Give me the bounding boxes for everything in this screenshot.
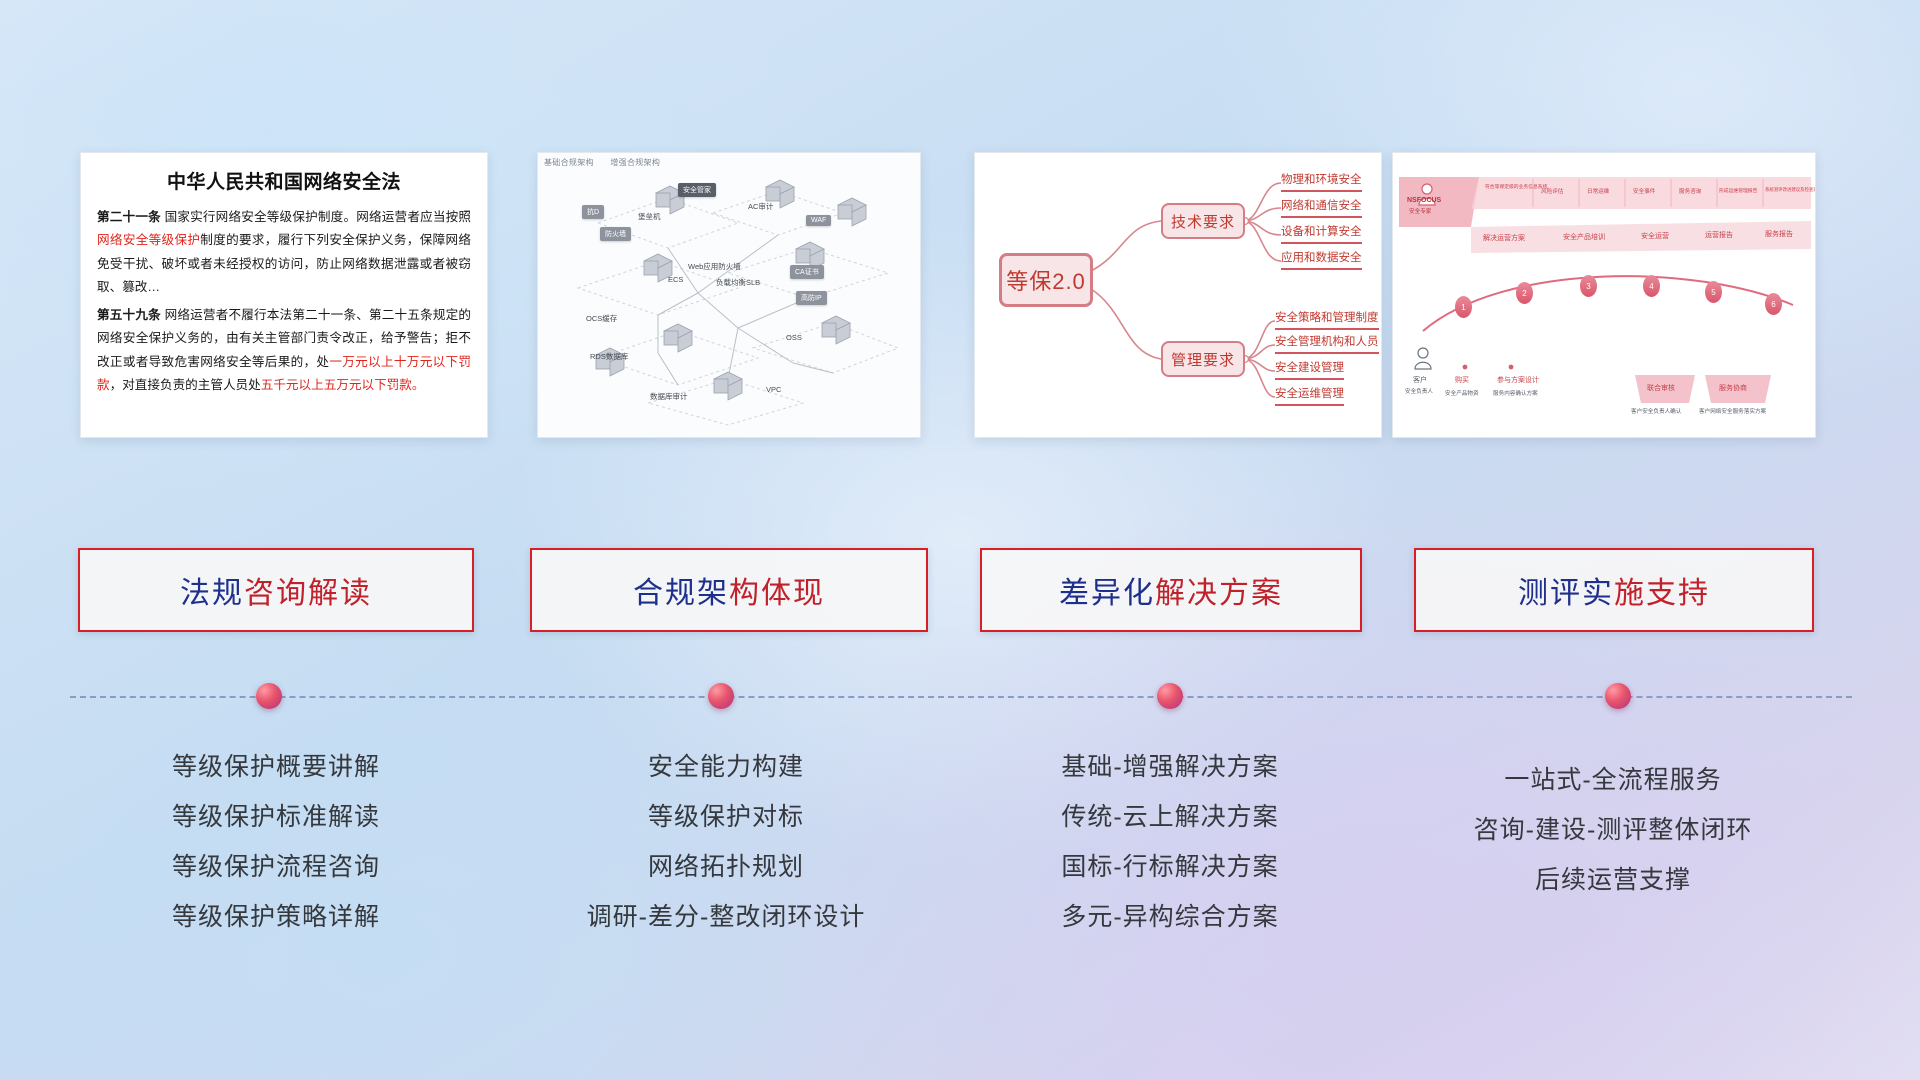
slide-canvas: 中华人民共和国网络安全法 第二十一条 国家实行网络安全等级保护制度。网络运营者应… (0, 0, 1920, 1080)
roadmap-note-5: 形成运维管理报告 (1719, 187, 1757, 194)
column-title-4-red: 施支持 (1614, 577, 1710, 610)
roadmap-phase-0: 解决运营方案 (1483, 233, 1525, 243)
arch-label-db-audit: 数据库审计 (650, 391, 688, 402)
roadmap-bottom-left-0: 购买 (1455, 375, 1469, 385)
list-item: 咨询-建设-测评整体闭环 (1398, 805, 1828, 855)
column-title-box-3[interactable]: 差异化解决方案 (980, 548, 1362, 632)
column-title-3: 差异化解决方案 (1059, 568, 1283, 612)
roadmap-note-3: 安全事件 (1633, 187, 1655, 195)
mindmap-leaf-network-comm: 网络和通信安全 (1281, 197, 1362, 218)
mindmap-leaf-device-compute: 设备和计算安全 (1281, 223, 1362, 244)
mindmap-leaf-construction-mgmt: 安全建设管理 (1275, 359, 1344, 380)
law-article-59-label: 第五十九条 (97, 308, 161, 322)
column-title-2-blue: 合规架 (633, 577, 729, 610)
roadmap-phase-2: 安全运营 (1641, 231, 1669, 241)
card-mindmap: 等保2.0 技术要求 管理要求 物理和环境安全 网络和通信安全 设备和计算安全 … (974, 152, 1382, 438)
column-title-1: 法规咨询解读 (180, 568, 372, 612)
column-list-1: 等级保护概要讲解 等级保护标准解读 等级保护流程咨询 等级保护策略详解 (78, 742, 474, 942)
mindmap-branch-management: 管理要求 (1161, 341, 1245, 377)
column-title-2-red: 构体现 (729, 577, 825, 610)
mindmap-leaf-app-data: 应用和数据安全 (1281, 249, 1362, 270)
roadmap-step-1: 1 (1455, 296, 1472, 318)
roadmap-step-5: 5 (1705, 281, 1722, 303)
arch-label-ecs: ECS (668, 275, 683, 284)
roadmap-phase-3: 运营报告 (1705, 230, 1733, 240)
roadmap-note-6: 系统测评改进建议及检查汇报结果 (1765, 187, 1816, 193)
column-title-3-blue: 差异化 (1059, 577, 1155, 610)
architecture-canvas: 基础合规架构 增强合规架构 (538, 153, 920, 437)
law-article-59-highlight-2: 五千元以上五万元以下罚款。 (261, 378, 425, 392)
mindmap-leaf-policy-system: 安全策略和管理制度 (1275, 309, 1379, 330)
arch-label-web-waf: Web应用防火墙 (688, 261, 741, 272)
list-item: 等级保护策略详解 (78, 892, 474, 942)
arch-tag-antiddos: 抗D (582, 205, 604, 219)
arch-tag-highdefense-ip: 高防IP (796, 291, 827, 305)
column-title-box-2[interactable]: 合规架构体现 (530, 548, 928, 632)
card-law-text: 中华人民共和国网络安全法 第二十一条 国家实行网络安全等级保护制度。网络运营者应… (80, 152, 488, 438)
column-list-2: 安全能力构建 等级保护对标 网络拓扑规划 调研-差分-整改闭环设计 (516, 742, 936, 942)
law-article-21-text-a: 国家实行网络安全等级保护制度。网络运营者应当按照 (165, 210, 471, 224)
roadmap-bottom-right-0: 联合审核 (1647, 383, 1675, 393)
mindmap-leaf-org-personnel: 安全管理机构和人员 (1275, 333, 1379, 354)
roadmap-note-2: 日常运维 (1587, 187, 1609, 195)
arch-label-slb: 负载均衡SLB (716, 277, 760, 288)
list-item: 基础-增强解决方案 (960, 742, 1380, 792)
roadmap-brand: NSFOCUS (1407, 197, 1441, 204)
mindmap-branch-technical: 技术要求 (1161, 203, 1245, 239)
architecture-lines (538, 153, 921, 438)
list-item: 多元-异构综合方案 (960, 892, 1380, 942)
roadmap-note-1: 风险评估 (1541, 187, 1563, 195)
roadmap-bottom-right-sub-1: 客户网络安全服务落实方案 (1699, 407, 1766, 415)
roadmap-step-6: 6 (1765, 293, 1782, 315)
roadmap-note-0: 符合等保定级的业务信息系统 (1485, 183, 1547, 190)
mindmap-leaf-physical-env: 物理和环境安全 (1281, 171, 1362, 192)
roadmap-step-4: 4 (1643, 275, 1660, 297)
roadmap-persona: 客户 (1413, 375, 1427, 385)
arch-tag-firewall: 防火墙 (600, 227, 631, 241)
roadmap-canvas: NSFOCUS 安全专家 符合等保定级的业务信息系统 风险评估 日常运维 安全事… (1393, 153, 1815, 437)
timeline-dot-4[interactable] (1605, 683, 1631, 709)
list-item: 等级保护概要讲解 (78, 742, 474, 792)
law-paragraph-59: 第五十九条 网络运营者不履行本法第二十一条、第二十五条规定的网络安全保护义务的，… (97, 304, 471, 398)
arch-tag-security-steward: 安全管家 (678, 183, 716, 197)
roadmap-bottom-left-sub-1: 服务内容确认方案 (1493, 389, 1538, 397)
arch-tag-ca-cert: CA证书 (790, 265, 824, 279)
arch-label-rds: RDS数据库 (590, 351, 628, 362)
column-title-box-1[interactable]: 法规咨询解读 (78, 548, 474, 632)
column-title-1-blue: 法规 (180, 577, 244, 610)
list-item: 一站式-全流程服务 (1398, 755, 1828, 805)
card-architecture-diagram: 基础合规架构 增强合规架构 (537, 152, 921, 438)
list-item: 等级保护标准解读 (78, 792, 474, 842)
mindmap-canvas: 等保2.0 技术要求 管理要求 物理和环境安全 网络和通信安全 设备和计算安全 … (975, 153, 1381, 437)
timeline-dot-2[interactable] (708, 683, 734, 709)
list-item: 传统-云上解决方案 (960, 792, 1380, 842)
list-item: 后续运营支撑 (1398, 855, 1828, 905)
roadmap-brand-sub: 安全专家 (1409, 207, 1431, 215)
list-item: 国标-行标解决方案 (960, 842, 1380, 892)
list-item: 等级保护流程咨询 (78, 842, 474, 892)
arch-label-bastion: 堡垒机 (638, 211, 661, 222)
law-article-59-text-b: ，对直接负责的主管人员处 (110, 378, 261, 392)
roadmap-phase-4: 服务报告 (1765, 229, 1793, 239)
arch-label-ac-audit: AC审计 (748, 201, 773, 212)
mindmap-root-node: 等保2.0 (999, 253, 1093, 307)
list-item: 安全能力构建 (516, 742, 936, 792)
timeline-dot-1[interactable] (256, 683, 282, 709)
roadmap-bottom-right-1: 服务协商 (1719, 383, 1747, 393)
roadmap-bottom-left-1: 参与方案设计 (1497, 375, 1539, 385)
law-article-21-highlight: 网络安全等级保护 (97, 233, 200, 247)
list-item: 等级保护对标 (516, 792, 936, 842)
column-list-3: 基础-增强解决方案 传统-云上解决方案 国标-行标解决方案 多元-异构综合方案 (960, 742, 1380, 942)
arch-label-ocs: OCS缓存 (586, 313, 617, 324)
mindmap-leaf-ops-mgmt: 安全运维管理 (1275, 385, 1344, 406)
roadmap-bottom-left-sub-0: 安全产品物资 (1445, 389, 1479, 397)
timeline-dot-3[interactable] (1157, 683, 1183, 709)
law-title: 中华人民共和国网络安全法 (97, 167, 471, 194)
roadmap-persona-sub: 安全负责人 (1405, 387, 1433, 395)
roadmap-step-2: 2 (1516, 282, 1533, 304)
list-item: 调研-差分-整改闭环设计 (516, 892, 936, 942)
roadmap-note-4: 服务咨询 (1679, 187, 1701, 195)
list-item: 网络拓扑规划 (516, 842, 936, 892)
timeline-dashed-line (70, 696, 1852, 698)
column-title-4: 测评实施支持 (1518, 568, 1710, 612)
column-title-1-red: 咨询解读 (244, 577, 372, 610)
roadmap-bottom-right-sub-0: 客户安全负责人确认 (1631, 407, 1681, 415)
law-paragraph-21: 第二十一条 国家实行网络安全等级保护制度。网络运营者应当按照网络安全等级保护制度… (97, 206, 471, 300)
card-roadmap: NSFOCUS 安全专家 符合等保定级的业务信息系统 风险评估 日常运维 安全事… (1392, 152, 1816, 438)
arch-tag-waf: WAF (806, 215, 831, 226)
column-title-2: 合规架构体现 (633, 568, 825, 612)
law-article-21-label: 第二十一条 (97, 210, 161, 224)
roadmap-step-3: 3 (1580, 275, 1597, 297)
column-title-box-4[interactable]: 测评实施支持 (1414, 548, 1814, 632)
arch-label-vpc: VPC (766, 385, 781, 394)
column-title-4-blue: 测评实 (1518, 577, 1614, 610)
column-list-4: 一站式-全流程服务 咨询-建设-测评整体闭环 后续运营支撑 (1398, 755, 1828, 905)
column-title-3-red: 解决方案 (1155, 577, 1283, 610)
roadmap-phase-1: 安全产品培训 (1563, 232, 1605, 242)
arch-label-oss: OSS (786, 333, 802, 342)
law-content: 中华人民共和国网络安全法 第二十一条 国家实行网络安全等级保护制度。网络运营者应… (81, 153, 487, 411)
